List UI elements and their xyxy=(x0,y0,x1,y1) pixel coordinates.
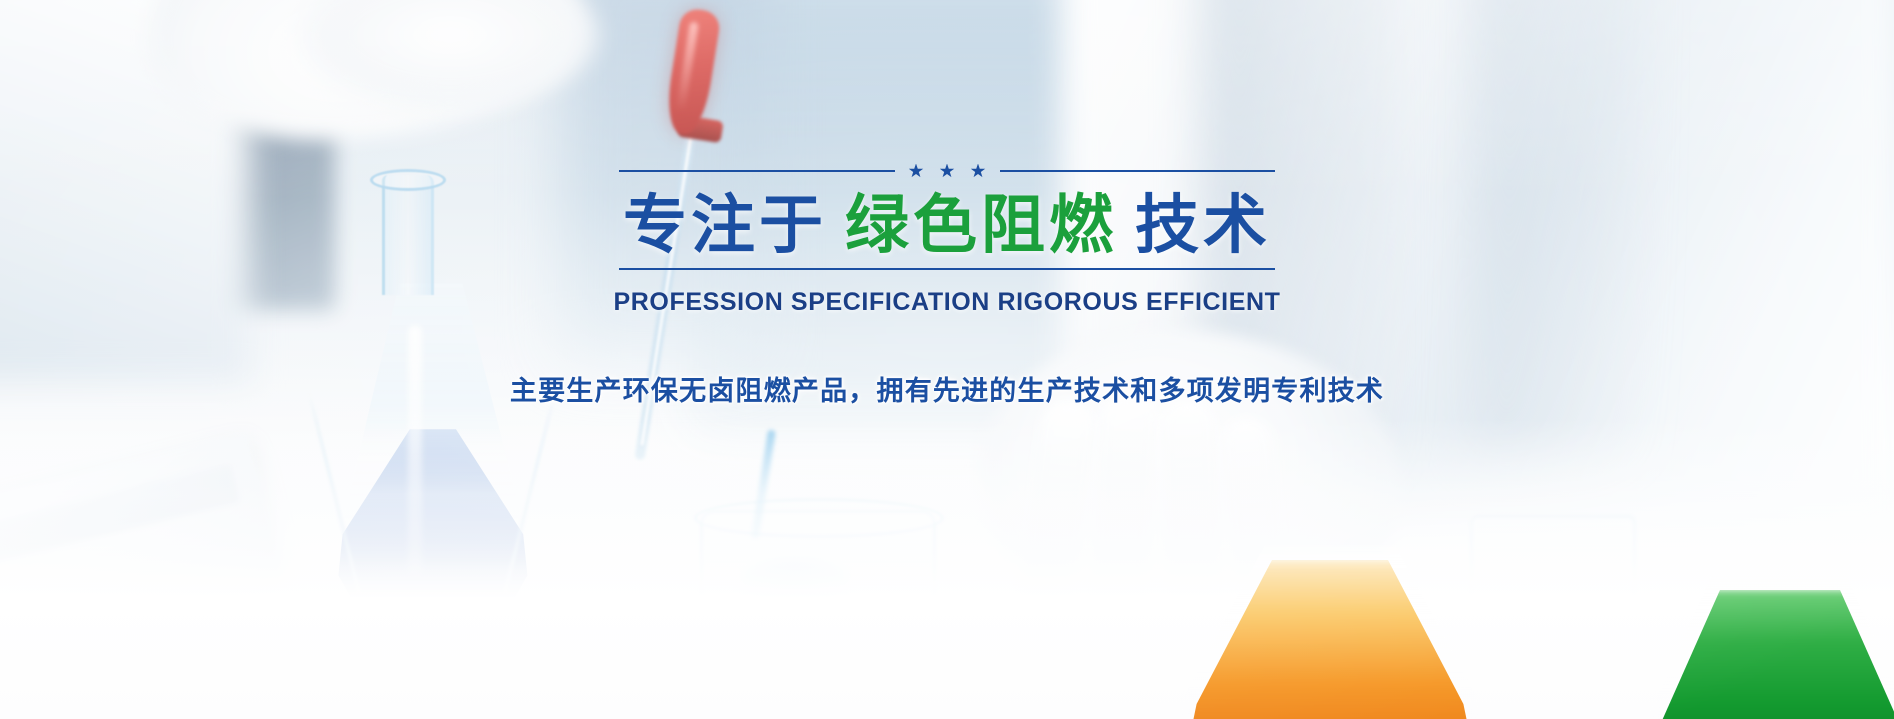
star-group xyxy=(909,164,986,179)
star-icon xyxy=(971,164,986,179)
banner-subtitle: PROFESSION SPECIFICATION RIGOROUS EFFICI… xyxy=(613,288,1280,317)
divider-rule-right xyxy=(1000,170,1276,172)
title-part-primary: 专注于 xyxy=(623,189,827,261)
banner-content: 专注于绿色阻燃技术 PROFESSION SPECIFICATION RIGOR… xyxy=(0,160,1894,408)
star-icon xyxy=(940,164,955,179)
star-icon xyxy=(909,164,924,179)
banner-title: 专注于绿色阻燃技术 xyxy=(623,188,1271,264)
title-part-suffix: 技术 xyxy=(1135,189,1271,261)
banner-description: 主要生产环保无卤阻燃产品，拥有先进的生产技术和多项发明专利技术 xyxy=(510,369,1384,408)
title-part-accent: 绿色阻燃 xyxy=(845,189,1117,261)
decorative-divider-top xyxy=(619,160,1275,182)
divider-rule-left xyxy=(619,170,895,172)
hero-banner: 专注于绿色阻燃技术 PROFESSION SPECIFICATION RIGOR… xyxy=(0,0,1894,719)
decorative-divider-bottom xyxy=(619,268,1275,270)
